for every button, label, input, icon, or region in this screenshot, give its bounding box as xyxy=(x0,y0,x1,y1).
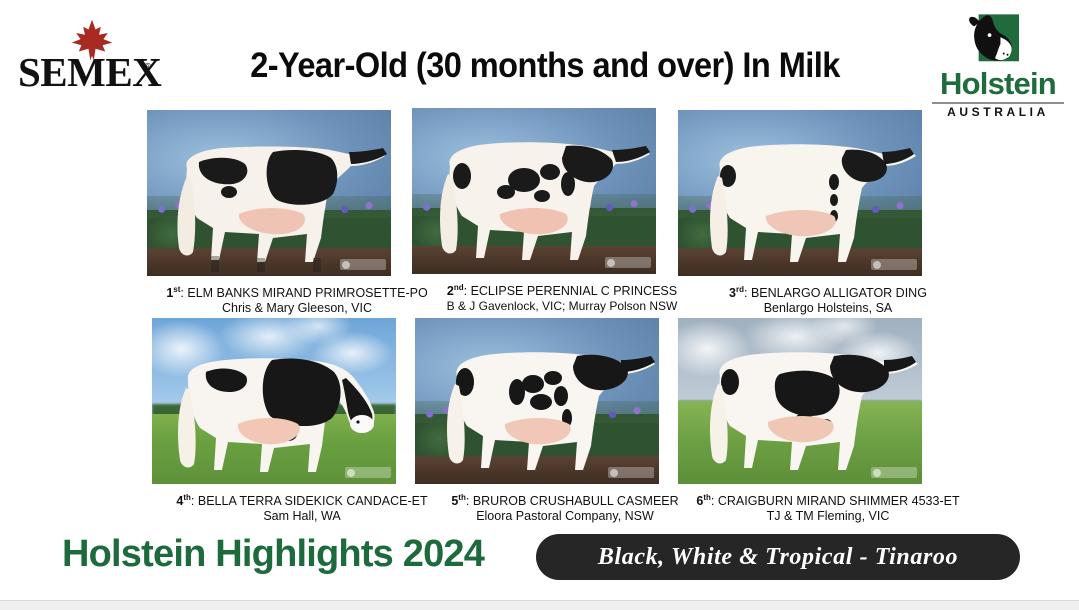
photo-watermark xyxy=(608,467,654,478)
entry-rank-suffix-5: th xyxy=(458,493,466,502)
holstein-cow-photo-3 xyxy=(678,110,922,276)
entry-card-2: 2nd: ECLIPSE PERENNIAL C PRINCESS B & J … xyxy=(412,108,712,314)
entry-card-4: 4th: BELLA TERRA SIDEKICK CANDACE-ET Sam… xyxy=(152,318,452,524)
photo-watermark xyxy=(340,259,386,270)
entry-card-1: 1st: ELM BANKS MIRAND PRIMROSETTE-PO Chr… xyxy=(147,110,447,316)
footer-title: Holstein Highlights 2024 xyxy=(62,533,484,576)
photo-watermark xyxy=(871,467,917,478)
entry-rank-suffix-4: th xyxy=(183,493,191,502)
event-badge: Black, White & Tropical - Tinaroo xyxy=(536,534,1020,580)
holstein-cow-photo-6 xyxy=(678,318,922,484)
entry-card-3: 3rd: BENLARGO ALLIGATOR DING Benlargo Ho… xyxy=(678,110,978,316)
entry-name-4: BELLA TERRA SIDEKICK CANDACE-ET xyxy=(198,494,428,508)
photo-watermark xyxy=(605,257,651,268)
poster-page: SEMEX ® 2-Year-Old (30 months and over) … xyxy=(0,0,1079,609)
entry-rank-suffix-6: th xyxy=(703,493,711,502)
holstein-cow-photo-1 xyxy=(147,110,391,276)
footer: Holstein Highlights 2024 Black, White & … xyxy=(0,520,1079,609)
entry-caption-2: 2nd: ECLIPSE PERENNIAL C PRINCESS B & J … xyxy=(412,280,712,314)
entry-name-1: ELM BANKS MIRAND PRIMROSETTE-PO xyxy=(187,286,427,300)
holstein-cow-photo-2 xyxy=(412,108,656,274)
entry-rank-suffix-1: st xyxy=(173,285,180,294)
entry-name-6: CRAIGBURN MIRAND SHIMMER 4533-ET xyxy=(718,494,960,508)
entry-rank-3: 3 xyxy=(729,286,736,300)
entry-rank-suffix-2: nd xyxy=(454,283,464,292)
entry-name-5: BRUROB CRUSHABULL CASMEER xyxy=(473,494,679,508)
entry-rank-suffix-3: rd xyxy=(736,285,744,294)
event-badge-label: Black, White & Tropical - Tinaroo xyxy=(536,534,1020,580)
holstein-cow-photo-4 xyxy=(152,318,396,484)
photo-watermark xyxy=(871,259,917,270)
entry-caption-3: 3rd: BENLARGO ALLIGATOR DING Benlargo Ho… xyxy=(678,282,978,316)
entry-owner-1: Chris & Mary Gleeson, VIC xyxy=(222,301,372,315)
photo-watermark xyxy=(345,467,391,478)
holstein-cow-photo-5 xyxy=(415,318,659,484)
entry-owner-3: Benlargo Holsteins, SA xyxy=(764,301,893,315)
entry-caption-1: 1st: ELM BANKS MIRAND PRIMROSETTE-PO Chr… xyxy=(147,282,447,316)
entry-owner-2: B & J Gavenlock, VIC; Murray Polson NSW xyxy=(447,299,678,313)
entries-grid: 1st: ELM BANKS MIRAND PRIMROSETTE-PO Chr… xyxy=(0,0,1079,609)
entry-card-5: 5th: BRUROB CRUSHABULL CASMEER Eloora Pa… xyxy=(415,318,715,524)
entry-card-6: 6th: CRAIGBURN MIRAND SHIMMER 4533-ET TJ… xyxy=(678,318,978,524)
entry-name-2: ECLIPSE PERENNIAL C PRINCESS xyxy=(471,284,678,298)
entry-name-3: BENLARGO ALLIGATOR DING xyxy=(751,286,927,300)
entry-rank-2: 2 xyxy=(447,284,454,298)
